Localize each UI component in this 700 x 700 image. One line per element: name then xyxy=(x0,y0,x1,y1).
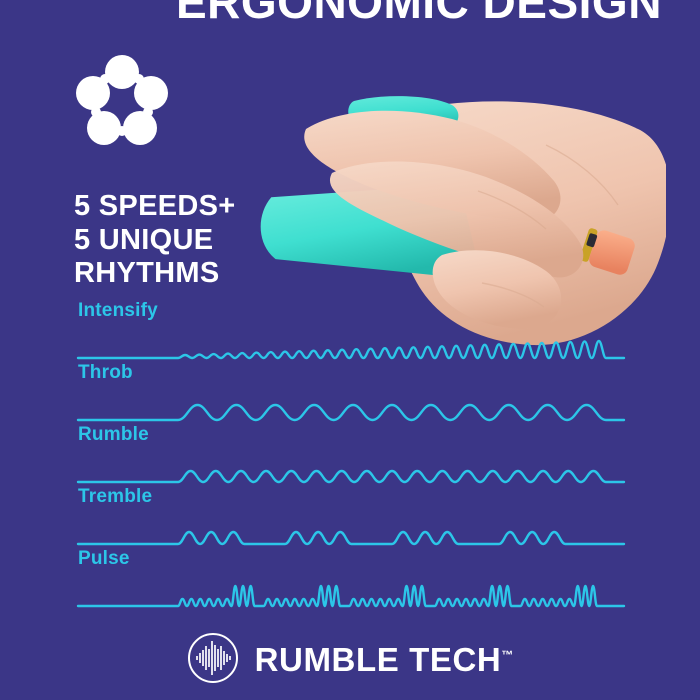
speeds-heading: 5 SPEEDS+ 5 UNIQUE RHYTHMS xyxy=(74,190,235,291)
rhythm-row-rumble: Rumble xyxy=(0,424,700,486)
rhythm-waveform-rumble xyxy=(78,442,624,486)
rhythm-waveform-intensify xyxy=(78,318,624,362)
product-feature-graphic: ERGONOMIC DESIGN xyxy=(0,0,700,700)
brand-name: RUMBLE TECH™ xyxy=(255,641,514,679)
speeds-line-2: 5 UNIQUE xyxy=(74,224,235,258)
rhythm-list: Intensify Throb Rumble Tremble Pulse xyxy=(0,300,700,610)
rhythm-row-pulse: Pulse xyxy=(0,548,700,610)
speeds-line-3: RHYTHMS xyxy=(74,257,235,291)
rhythm-row-tremble: Tremble xyxy=(0,486,700,548)
rhythm-row-intensify: Intensify xyxy=(0,300,700,362)
brand-text: RUMBLE TECH xyxy=(255,641,502,678)
speeds-line-1: 5 SPEEDS+ xyxy=(74,190,235,224)
headline: ERGONOMIC DESIGN xyxy=(176,18,696,98)
audio-waveform-badge-icon xyxy=(187,632,239,689)
rhythm-waveform-throb xyxy=(78,380,624,424)
five-circle-pentagon-logo xyxy=(72,52,172,152)
rhythm-waveform-pulse xyxy=(78,566,624,610)
headline-text: ERGONOMIC DESIGN xyxy=(176,0,662,28)
rhythm-waveform-tremble xyxy=(78,504,624,548)
trademark-symbol: ™ xyxy=(501,648,513,662)
rhythm-row-throb: Throb xyxy=(0,362,700,424)
footer-branding: RUMBLE TECH™ xyxy=(0,624,700,696)
